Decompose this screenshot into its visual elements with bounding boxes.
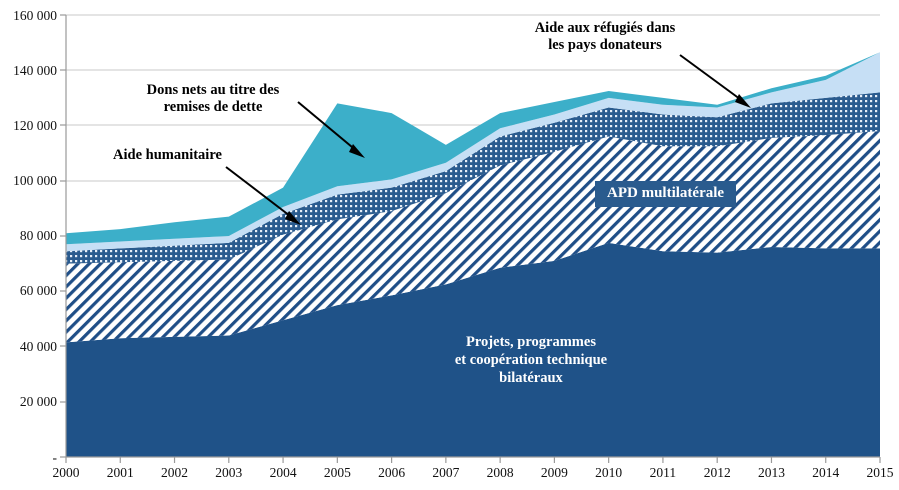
x-tick-label: 2007 <box>418 466 474 480</box>
x-tick-label: 2015 <box>852 466 899 480</box>
x-tick-label: 2010 <box>581 466 637 480</box>
x-tick-label: 2006 <box>364 466 420 480</box>
x-tick-label: 2008 <box>472 466 528 480</box>
x-tick-label: 2000 <box>38 466 94 480</box>
annotation-refugees: Aide aux réfugiés dans les pays donateur… <box>505 20 705 54</box>
x-tick-label: 2009 <box>526 466 582 480</box>
x-tick-label: 2003 <box>201 466 257 480</box>
x-tick-label: 2001 <box>92 466 148 480</box>
x-tick-label: 2013 <box>743 466 799 480</box>
x-tick-label: 2014 <box>798 466 854 480</box>
x-tick-label: 2002 <box>147 466 203 480</box>
x-tick-label: 2011 <box>635 466 691 480</box>
x-tick-label: 2012 <box>689 466 745 480</box>
label-multilaterale: APD multilatérale <box>595 181 736 207</box>
x-tick-label: 2005 <box>309 466 365 480</box>
annotation-humanitarian: Aide humanitaire <box>95 147 240 164</box>
annotation-debt-relief: Dons nets au titre des remises de dette <box>118 82 308 116</box>
plot-area <box>0 0 899 490</box>
stacked-area-chart: 160 000 140 000 120 000 100 000 80 000 6… <box>0 0 899 490</box>
x-tick-label: 2004 <box>255 466 311 480</box>
refugees-arrow <box>680 55 744 102</box>
label-bilateraux: Projets, programmes et coopération techn… <box>418 333 644 387</box>
x-tick-marks <box>66 457 880 463</box>
